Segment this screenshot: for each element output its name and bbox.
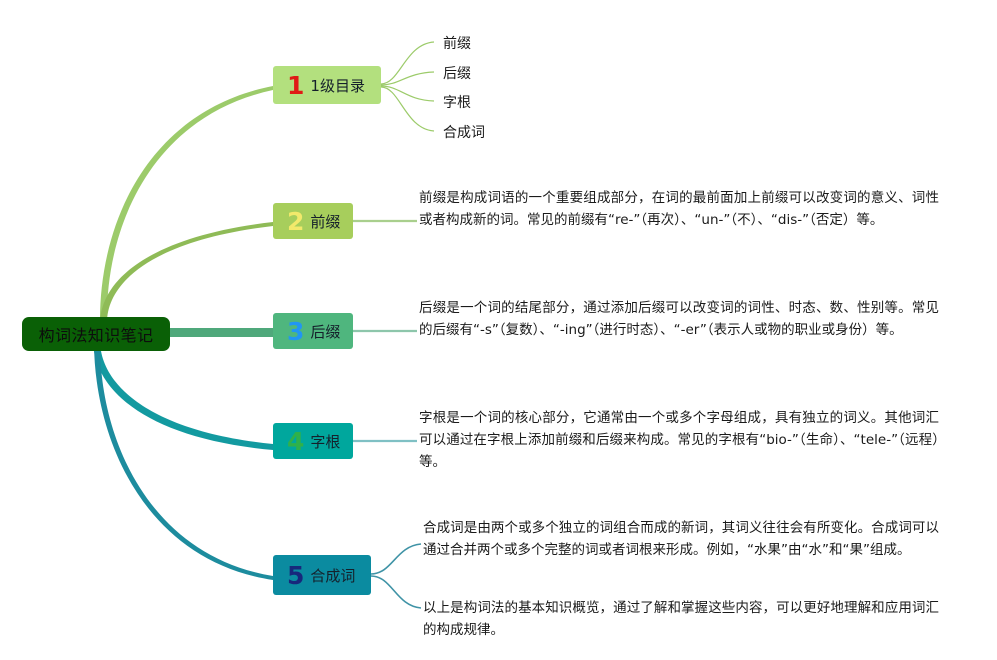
topic-1-child-3[interactable]: 合成词	[443, 122, 485, 142]
edge-topic-1-child-1	[381, 72, 434, 85]
edge-topic-1-child-0	[381, 42, 434, 84]
topic-node-3[interactable]: 3 后缀	[273, 313, 353, 349]
topic-1-child-1[interactable]: 后缀	[443, 63, 471, 83]
topic-2-number: 2	[287, 209, 304, 234]
topic-4-paragraph-0: 字根是一个词的核心部分，它通常由一个或多个字母组成，具有独立的词义。其他词汇可以…	[419, 408, 939, 474]
topic-5-paragraph-1: 以上是构词法的基本知识概览，通过了解和掌握这些内容，可以更好地理解和应用词汇的构…	[423, 598, 939, 642]
mindmap-canvas: 构词法知识笔记 1 1级目录 前缀 后缀 字根 合成词 2 前缀 前缀是构成词语…	[0, 0, 997, 660]
topic-1-child-2[interactable]: 字根	[443, 92, 471, 112]
edge-topic-5-paragraph-1	[371, 576, 421, 608]
edge-root-topic-2	[100, 222, 273, 324]
topic-5-number: 5	[287, 563, 304, 588]
topic-1-label: 1级目录	[310, 75, 365, 96]
topic-2-label: 前缀	[310, 211, 340, 232]
topic-node-1[interactable]: 1 1级目录	[273, 66, 381, 104]
edge-root-topic-3	[168, 328, 275, 337]
topic-4-number: 4	[287, 429, 304, 454]
edge-root-topic-4	[93, 340, 273, 450]
root-node[interactable]: 构词法知识笔记	[22, 317, 170, 351]
edge-topic-1-child-2	[381, 86, 434, 101]
topic-5-paragraph-0: 合成词是由两个或多个独立的词组合而成的新词，其词义往往会有所变化。合成词可以通过…	[423, 518, 939, 562]
edge-root-topic-5	[94, 344, 273, 580]
edge-topic-5-paragraph-0	[371, 544, 421, 574]
edge-group-topic-1-children	[381, 42, 434, 131]
topic-3-paragraph-0: 后缀是一个词的结尾部分，通过添加后缀可以改变词的词性、时态、数、性别等。常见的后…	[419, 298, 939, 342]
topic-3-number: 3	[287, 319, 304, 344]
topic-2-paragraph-0: 前缀是构成词语的一个重要组成部分，在词的最前面加上前缀可以改变词的意义、词性或者…	[419, 188, 939, 232]
edge-root-topic-1	[100, 86, 273, 320]
topic-4-label: 字根	[310, 431, 340, 452]
topic-node-4[interactable]: 4 字根	[273, 423, 353, 459]
root-node-label: 构词法知识笔记	[39, 322, 154, 346]
edge-group-topic-5-paragraphs	[371, 544, 421, 608]
topic-node-2[interactable]: 2 前缀	[273, 203, 353, 239]
topic-5-label: 合成词	[310, 565, 355, 586]
topic-3-label: 后缀	[310, 321, 340, 342]
edge-topic-1-child-3	[381, 87, 434, 131]
topic-1-child-0[interactable]: 前缀	[443, 33, 471, 53]
topic-node-5[interactable]: 5 合成词	[273, 555, 371, 595]
topic-1-number: 1	[287, 73, 304, 98]
